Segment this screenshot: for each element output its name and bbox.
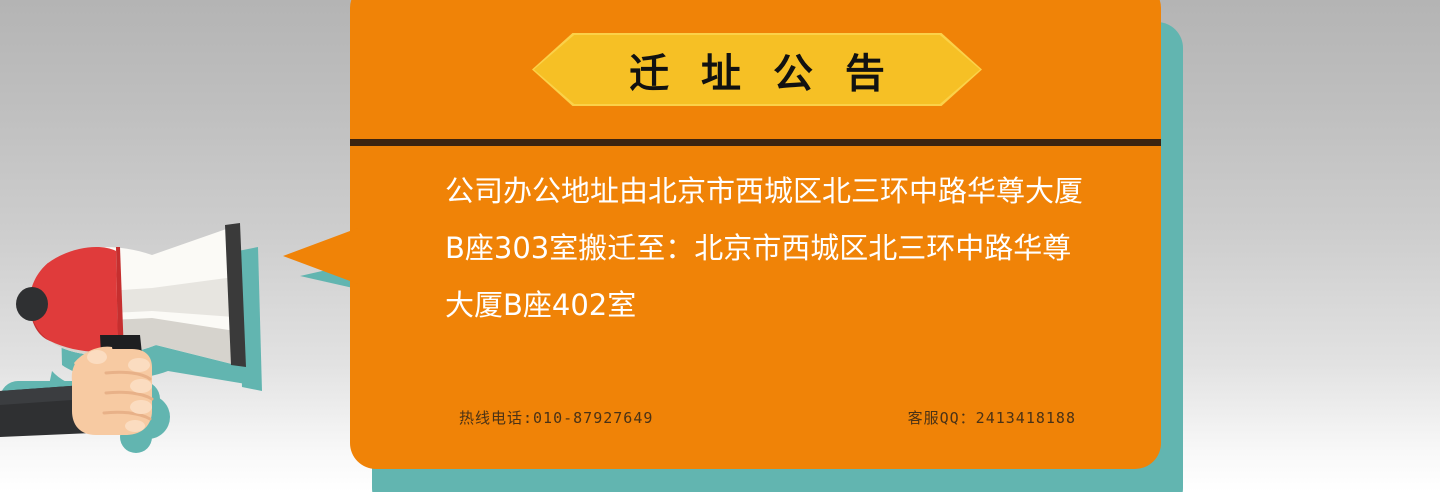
megaphone-illustration	[0, 185, 300, 492]
title-banner: 迁 址 公 告	[534, 35, 980, 104]
divider	[350, 139, 1161, 146]
hand	[72, 347, 152, 435]
footer-contacts: 热线电话:010-87927649 客服QQ：2413418188	[445, 407, 1090, 428]
page-title: 迁 址 公 告	[620, 41, 894, 99]
announcement-body-text: 公司办公地址由北京市西城区北三环中路华尊大厦B座303室搬迁至：北京市西城区北三…	[445, 163, 1090, 334]
hotline-text: 热线电话:010-87927649	[445, 407, 667, 428]
qq-text: 客服QQ：2413418188	[894, 407, 1090, 428]
announcement-banner: 迁 址 公 告 公司办公地址由北京市西城区北三环中路华尊大厦B座303室搬迁至：…	[0, 0, 1440, 492]
